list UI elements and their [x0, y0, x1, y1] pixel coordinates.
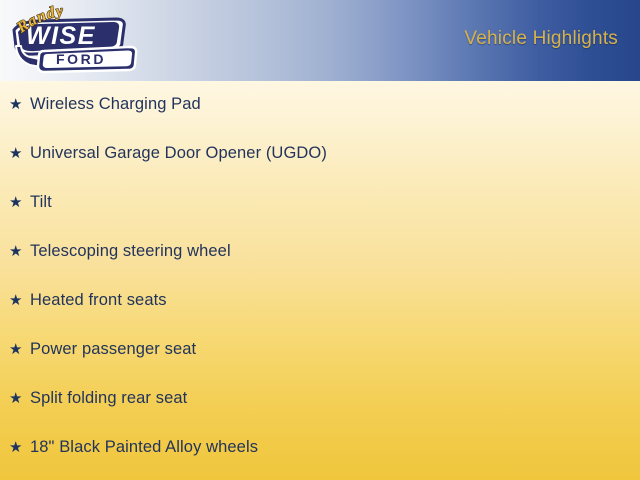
svg-text:FORD: FORD	[56, 51, 106, 67]
feature-label: Telescoping steering wheel	[30, 242, 231, 261]
feature-label: Heated front seats	[30, 291, 167, 310]
star-icon: ★	[9, 146, 30, 161]
star-icon: ★	[9, 195, 30, 210]
page-header: WISE Randy FORD Vehicle Highlights	[0, 0, 640, 81]
star-icon: ★	[9, 244, 30, 259]
feature-label: Tilt	[30, 193, 52, 212]
vehicle-highlights-page: WISE Randy FORD Vehicle Highlights ★ Wir…	[0, 0, 640, 480]
feature-label: 18" Black Painted Alloy wheels	[30, 438, 258, 457]
list-item: ★ Heated front seats	[0, 291, 640, 340]
list-item: ★ Telescoping steering wheel	[0, 242, 640, 291]
vehicle-highlights-list: ★ Wireless Charging Pad ★ Universal Gara…	[0, 81, 640, 480]
list-item: ★ Tilt	[0, 193, 640, 242]
list-item: ★ 18" Black Painted Alloy wheels	[0, 438, 640, 480]
page-title: Vehicle Highlights	[464, 28, 618, 50]
star-icon: ★	[9, 440, 30, 455]
list-item: ★ Power passenger seat	[0, 340, 640, 389]
randy-wise-ford-logo: WISE Randy FORD	[4, 2, 144, 78]
feature-label: Power passenger seat	[30, 340, 196, 359]
feature-label: Split folding rear seat	[30, 389, 187, 408]
list-item: ★ Split folding rear seat	[0, 389, 640, 438]
list-item: ★ Wireless Charging Pad	[0, 95, 640, 144]
star-icon: ★	[9, 342, 30, 357]
star-icon: ★	[9, 391, 30, 406]
star-icon: ★	[9, 293, 30, 308]
star-icon: ★	[9, 97, 30, 112]
feature-label: Wireless Charging Pad	[30, 95, 201, 114]
feature-label: Universal Garage Door Opener (UGDO)	[30, 144, 327, 163]
list-item: ★ Universal Garage Door Opener (UGDO)	[0, 144, 640, 193]
